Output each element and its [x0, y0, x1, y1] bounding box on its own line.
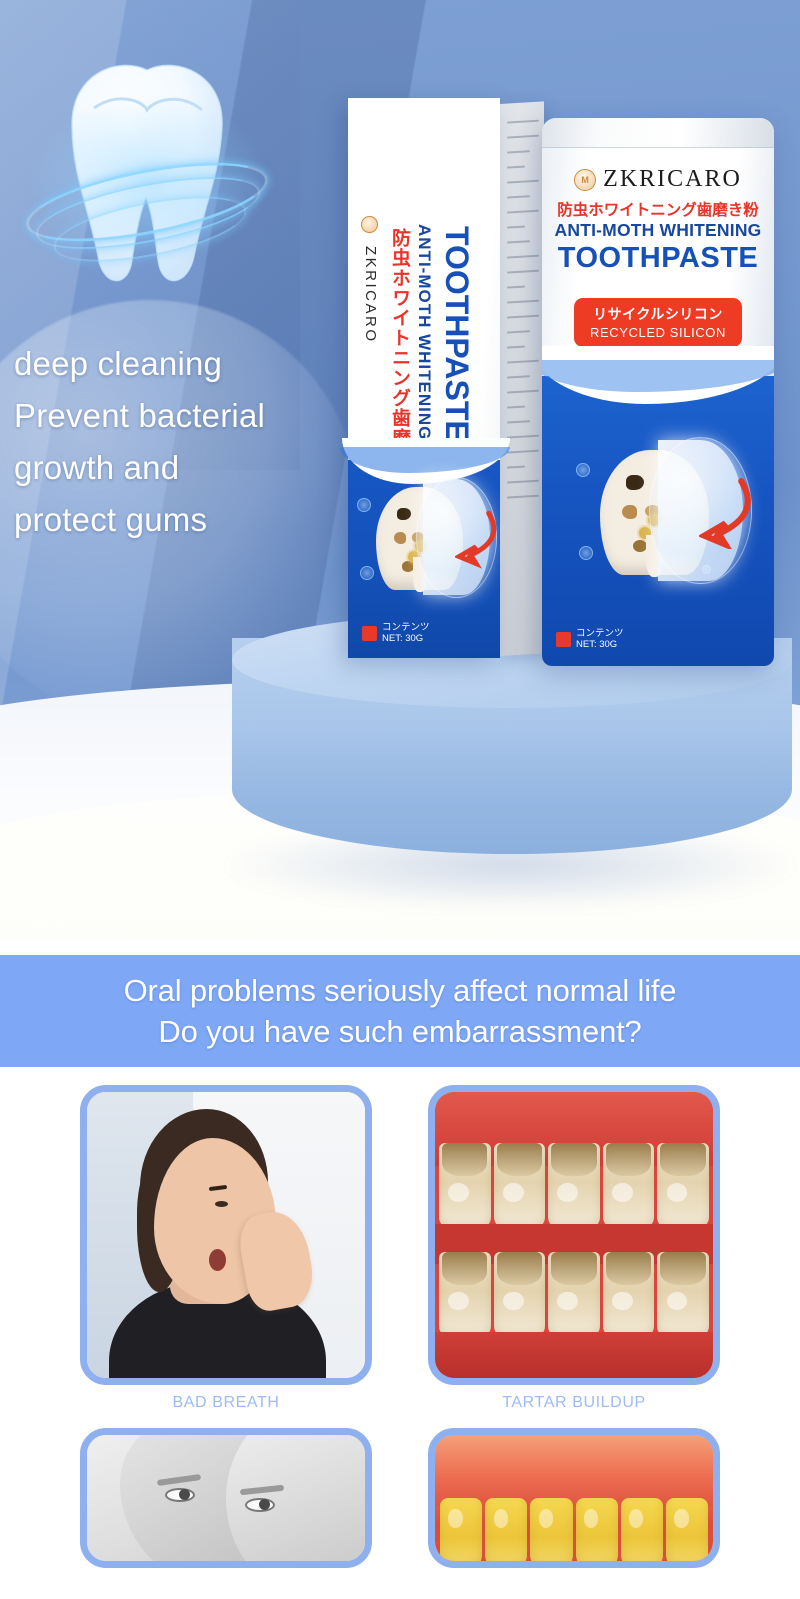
stain-spot — [633, 540, 647, 552]
microbe-icon — [576, 463, 590, 477]
photo-frame — [80, 1428, 372, 1568]
tube-badge-jp: リサイクルシリコン — [574, 304, 742, 324]
stain-spot — [394, 532, 406, 543]
tube-net-text: コンテンツ NET: 30G — [576, 628, 624, 650]
tube-badge-en: RECYCLED SILICON — [574, 325, 742, 340]
banner-line-2: Do you have such embarrassment? — [158, 1011, 641, 1052]
tube-jp-title: 防虫ホワイトニング歯磨き粉 — [542, 198, 774, 220]
hero-headline-line-3: growth and — [14, 442, 354, 494]
product-detail-page: deep cleaning Prevent bacterial growth a… — [0, 0, 800, 1599]
net-chip-icon — [362, 626, 377, 641]
photo-frame — [428, 1085, 720, 1385]
box-net-jp: コンテンツ — [382, 622, 430, 633]
tube-net-weight: コンテンツ NET: 30G — [556, 628, 624, 650]
tooth-icon — [22, 34, 272, 314]
box-en-title: ANTI-MOTH WHITENING — [414, 224, 434, 440]
banner-line-1: Oral problems seriously affect normal li… — [124, 970, 677, 1011]
hero-headline-line-2: Prevent bacterial — [14, 390, 354, 442]
hero-headline-line-4: protect gums — [14, 494, 354, 546]
photo-frame — [428, 1428, 720, 1568]
germ-icon — [639, 527, 651, 539]
tube-net-value: NET: 30G — [576, 639, 624, 650]
tube-en-title: ANTI-MOTH WHITENING — [542, 220, 774, 241]
tube-brand-row: M ZKRICARO — [542, 166, 774, 193]
stain-spot — [622, 505, 637, 519]
stain-spot — [402, 561, 413, 571]
box-brand: ZKRICARO — [362, 246, 379, 344]
tube-recycled-silicon-badge: リサイクルシリコン RECYCLED SILICON — [574, 298, 742, 347]
problem-caption: BAD BREATH — [80, 1394, 372, 1412]
problem-caption: TARTAR BUILDUP — [428, 1394, 720, 1412]
problem-banner: Oral problems seriously affect normal li… — [0, 955, 800, 1067]
tube-en-title-big: TOOTHPASTE — [542, 242, 774, 275]
product-box-side-panel — [500, 101, 544, 656]
problem-grid: BAD BREATH — [0, 1067, 800, 1568]
bw-woman-face-photo — [87, 1435, 365, 1561]
tube-blue-panel: コンテンツ NET: 30G — [542, 376, 774, 666]
problem-row-2 — [0, 1428, 800, 1568]
product-box: ZKRICARO 防虫ホワイトニング歯磨き粉 ANTI-MOTH WHITENI… — [348, 98, 500, 658]
watermark: A5 — [34, 912, 63, 938]
tube-seal-icon: M — [574, 169, 596, 191]
microbe-icon — [357, 498, 371, 512]
tube-net-jp: コンテンツ — [576, 628, 624, 639]
box-side-fineprint — [507, 120, 539, 499]
tube-crimp — [542, 118, 774, 148]
box-net-value: NET: 30G — [382, 633, 430, 644]
tube-tooth-illustration — [572, 434, 748, 594]
stain-spot — [626, 475, 643, 490]
hero-headline-line-1: deep cleaning — [14, 338, 354, 390]
hero-headline: deep cleaning Prevent bacterial growth a… — [14, 338, 354, 546]
problem-row-1: BAD BREATH — [0, 1085, 800, 1412]
red-arrow-icon — [455, 508, 497, 569]
tube-brand: ZKRICARO — [603, 166, 742, 193]
problem-cell-fourth — [428, 1428, 720, 1568]
box-tooth-illustration — [354, 474, 494, 606]
problem-cell-third — [80, 1428, 372, 1568]
photo-frame — [80, 1085, 372, 1385]
woman-checking-breath-photo — [87, 1092, 365, 1378]
microbe-icon — [579, 546, 593, 560]
stain-spot — [397, 508, 411, 520]
red-arrow-icon — [699, 476, 752, 550]
hero-section: deep cleaning Prevent bacterial growth a… — [0, 0, 800, 940]
product-tube: M ZKRICARO 防虫ホワイトニング歯磨き粉 ANTI-MOTH WHITE… — [542, 118, 774, 666]
box-net-text: コンテンツ NET: 30G — [382, 622, 430, 644]
tartar-teeth-photo — [435, 1092, 713, 1378]
microbe-icon — [360, 566, 374, 580]
problem-cell-bad-breath: BAD BREATH — [80, 1085, 372, 1412]
net-chip-icon — [556, 632, 571, 647]
box-en-title-big: TOOTHPASTE — [438, 226, 475, 442]
problem-cell-tartar: TARTAR BUILDUP — [428, 1085, 720, 1412]
yellow-teeth-gums-photo — [435, 1435, 713, 1561]
box-net-weight: コンテンツ NET: 30G — [362, 622, 430, 644]
